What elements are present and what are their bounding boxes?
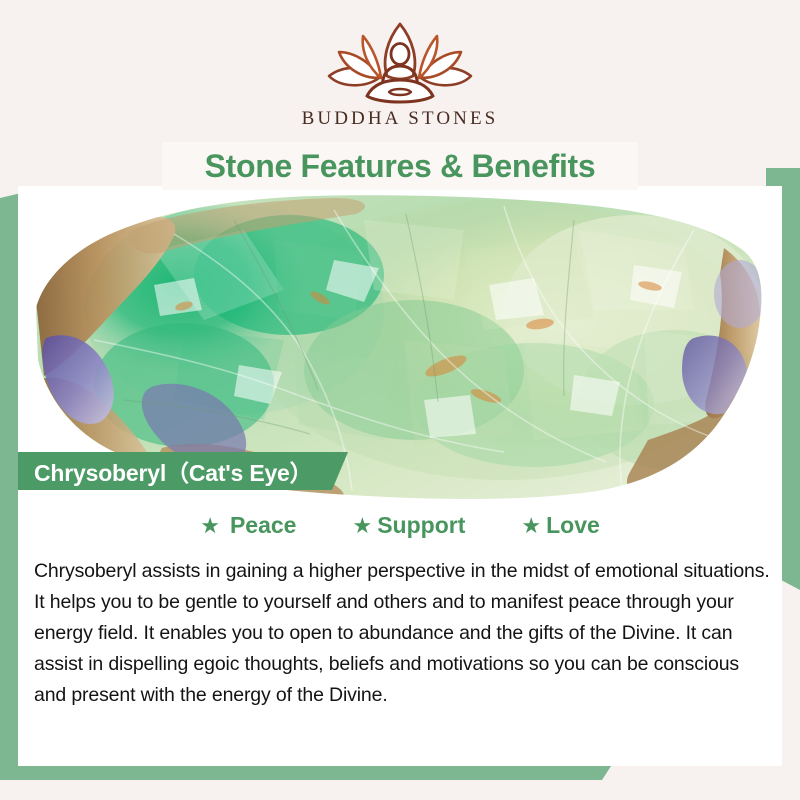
stone-name-caption: Chrysoberyl（Cat's Eye）	[18, 452, 348, 490]
brand-header: BUDDHA STONES	[0, 0, 800, 150]
stone-description: Chrysoberyl assists in gaining a higher …	[34, 556, 770, 711]
lotus-meditation-figure-icon	[315, 18, 485, 106]
page-title: Stone Features & Benefits	[205, 148, 596, 185]
keyword-love: ★ Love	[521, 512, 599, 539]
keyword-label: Support	[377, 512, 465, 539]
star-icon: ★	[521, 515, 541, 537]
stone-name: Chrysoberyl（Cat's Eye）	[34, 454, 312, 488]
keyword-peace: ★ Peace	[200, 512, 296, 539]
keyword-label: Peace	[230, 512, 297, 539]
star-icon: ★	[352, 515, 372, 537]
star-icon: ★	[200, 515, 220, 537]
stone-benefits-card: BUDDHA STONES Stone Features & Benefits	[0, 0, 800, 800]
page-title-banner: Stone Features & Benefits	[162, 142, 638, 190]
keyword-support: ★ Support	[352, 512, 465, 539]
keyword-list: ★ Peace ★ Support ★ Love	[34, 512, 766, 539]
brand-wordmark: BUDDHA STONES	[302, 108, 499, 130]
keyword-label: Love	[546, 512, 600, 539]
